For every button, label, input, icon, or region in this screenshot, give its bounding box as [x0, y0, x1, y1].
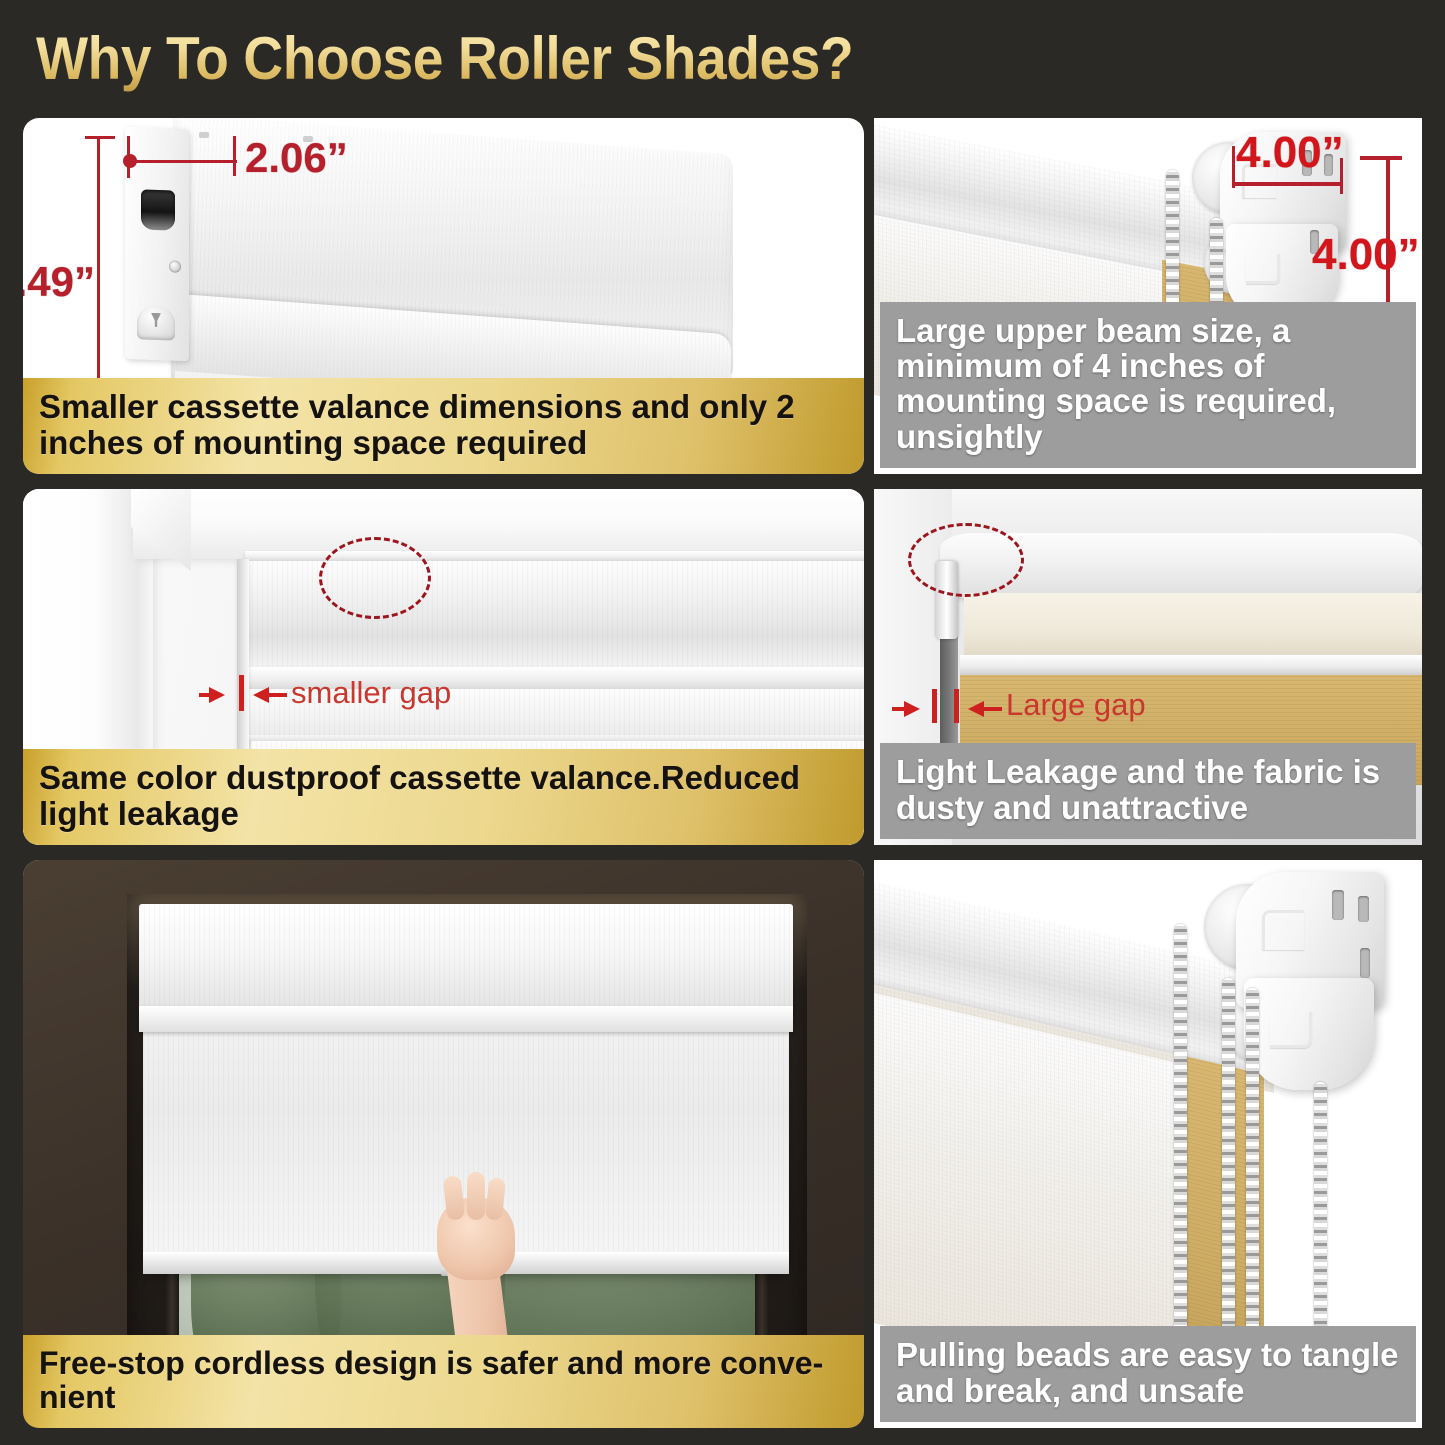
pull-bead-chain-2: [1222, 978, 1235, 1356]
caption-cordless: Free-stop cordless design is safer and m…: [23, 1335, 864, 1428]
beads-bracket-slot-c: [1360, 948, 1370, 978]
panel-cordless: Free-stop cordless design is safer and m…: [23, 860, 864, 1428]
beam-dim-height-label: 4.00”: [1312, 230, 1420, 280]
panel-large-beam: 4.00” 4.00” Large upper beam size, a min…: [874, 118, 1422, 474]
finger-1: [443, 1175, 466, 1221]
gap-arrow-left-stem: [199, 693, 213, 697]
finger-2: [467, 1172, 485, 1220]
panel-cassette-dimensions: 2.06” 5.49” Smaller cassette valance dim…: [23, 118, 864, 474]
caption-cassette-dimensions: Smaller cassette valance dimensions and …: [23, 378, 864, 474]
beads-bracket-lower: [1244, 978, 1374, 1090]
large-gap-valance: [964, 593, 1422, 657]
highlight-ellipse-gap: [319, 537, 431, 619]
dim-width-label: 2.06”: [245, 134, 348, 182]
pull-bead-chain-3: [1246, 988, 1259, 1356]
gap-arrow-right: [253, 687, 269, 703]
large-gap-bar-a: [932, 689, 937, 723]
dim-width-line: [127, 160, 237, 163]
end-cap-slot: [141, 189, 175, 230]
gap-label-smaller: smaller gap: [291, 675, 451, 711]
beads-bracket-slot-a: [1332, 890, 1344, 920]
large-gap-arrow-left: [904, 701, 920, 717]
caption-large-beam: Large upper beam size, a minimum of 4 in…: [880, 302, 1416, 468]
dim-height-label: 5.49”: [23, 258, 95, 306]
panel-large-gap: Large gap Light Leakage and the fabric i…: [874, 489, 1422, 845]
dim-width-dot: [123, 154, 137, 168]
end-cap-knob: [137, 305, 175, 340]
dim-height-tick-top: [85, 136, 115, 139]
end-cap-screw: [169, 260, 181, 272]
page-title: Why To Choose Roller Shades?: [36, 20, 1236, 100]
large-gap-arrow-right: [968, 701, 984, 717]
page-title-text: Why To Choose Roller Shades?: [36, 20, 1140, 98]
dim-width-tick-right: [233, 136, 236, 176]
gap-label-large: Large gap: [1006, 687, 1146, 723]
beads-bracket-slot-b: [1358, 896, 1369, 922]
valance-tab-left: [199, 132, 209, 138]
large-gap-bottom-rail: [960, 655, 1422, 675]
cassette-valance-lip: [139, 1006, 793, 1032]
panel-pull-beads: Pulling beads are easy to tangle and bre…: [874, 860, 1422, 1428]
gap-arrow-right-stem: [269, 693, 287, 697]
caption-pull-beads: Pulling beads are easy to tangle and bre…: [880, 1326, 1416, 1422]
window-head-trim: [133, 489, 864, 559]
caption-smaller-gap: Same color dustproof cassette valance.Re…: [23, 749, 864, 845]
beam-dim-h-tick-t: [1360, 156, 1402, 160]
panel-smaller-gap: smaller gap Same color dustproof cassett…: [23, 489, 864, 845]
beam-dim-width-label: 4.00”: [1236, 128, 1344, 178]
caption-large-gap: Light Leakage and the fabric is dusty an…: [880, 743, 1416, 839]
gap-measure-bar: [239, 675, 244, 711]
bracket-emboss-b: [1246, 254, 1280, 284]
large-gap-bar-b: [954, 689, 959, 723]
large-gap-arrow-right-stem: [984, 707, 1002, 711]
beads-bracket-emboss-a: [1262, 910, 1304, 950]
beads-bracket-emboss-b: [1270, 1012, 1312, 1048]
pull-bead-chain-1: [1174, 924, 1187, 1356]
pull-bead-chain-4: [1314, 1082, 1327, 1356]
highlight-ellipse-large-gap: [908, 523, 1024, 597]
large-gap-arrow-left-stem: [892, 707, 906, 711]
beam-dim-w-line: [1232, 182, 1342, 186]
